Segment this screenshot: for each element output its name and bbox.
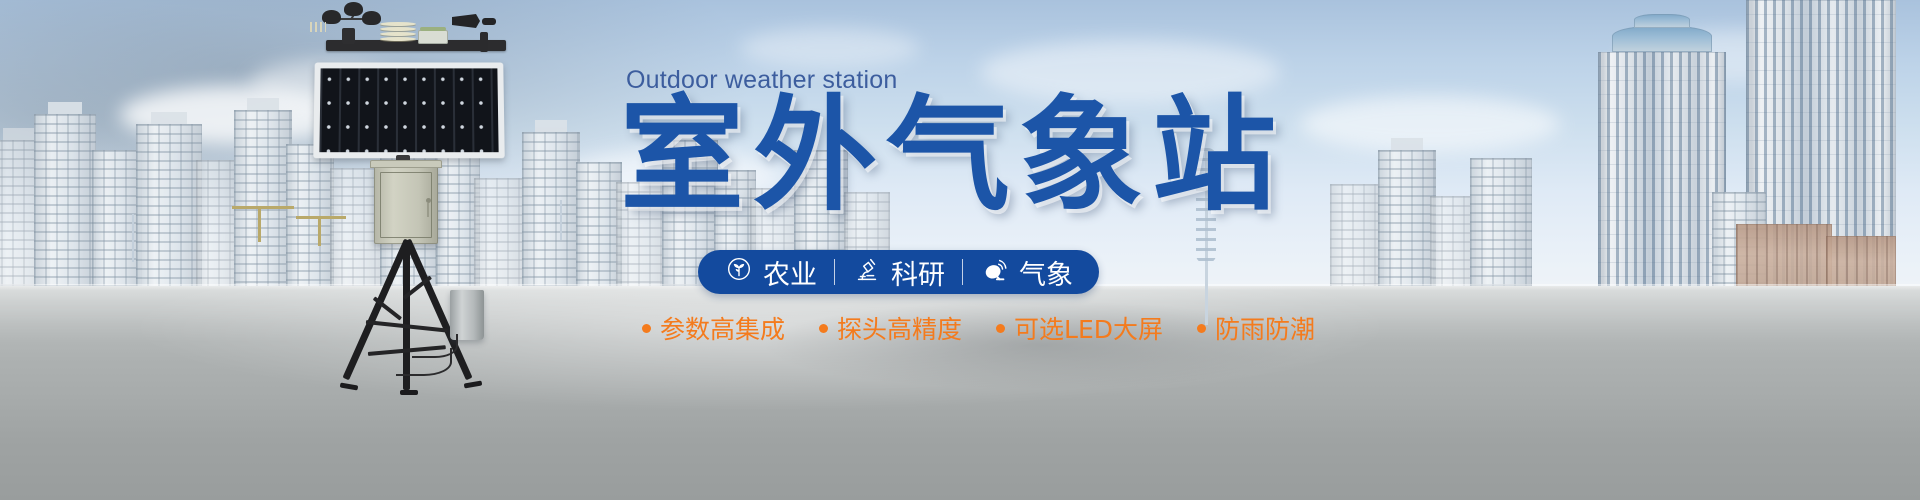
weather-station-product [300,0,560,420]
category-label: 气象 [1019,253,1073,292]
banner-copy: Outdoor weather station 室外气象站 农业 [620,0,1680,500]
pill-divider [834,259,835,285]
cabinet-roof [370,160,442,168]
solar-panel [313,62,505,158]
product-banner: Outdoor weather station 室外气象站 农业 [0,0,1920,500]
feature-list: 参数高集成 探头高精度 可选LED大屏 防雨防潮 [642,310,1315,346]
feature-label: 探头高精度 [837,310,962,346]
bullet-dot-icon [819,324,828,333]
category-meteorology[interactable]: 气象 [980,253,1073,292]
microscope-icon [852,254,882,291]
plant-circle-icon [724,254,754,291]
feature-item: 防雨防潮 [1197,310,1315,346]
feature-item: 可选LED大屏 [996,310,1163,346]
rain-gauge [450,290,484,340]
page-title: 室外气象站 [620,92,1285,220]
feature-label: 可选LED大屏 [1014,310,1163,346]
satellite-dish-icon [980,254,1010,291]
pill-divider [962,259,963,285]
category-research[interactable]: 科研 [852,253,945,292]
radiation-shield-icon [380,22,416,44]
bullet-dot-icon [642,324,651,333]
cable [412,334,458,358]
sensor-module [418,30,448,44]
wind-vane-icon [452,14,498,36]
feature-label: 参数高集成 [660,310,785,346]
cabinet-door [380,172,432,238]
category-label: 科研 [891,253,945,292]
sensor-module-top [420,27,446,31]
bullet-dot-icon [996,324,1005,333]
category-label: 农业 [763,253,817,292]
radiation-shield-legs [310,22,326,32]
feature-item: 探头高精度 [819,310,962,346]
category-pill: 农业 科研 [698,250,1099,294]
bullet-dot-icon [1197,324,1206,333]
category-agriculture[interactable]: 农业 [724,253,817,292]
feature-item: 参数高集成 [642,310,785,346]
feature-label: 防雨防潮 [1215,310,1315,346]
cabinet-key-icon [427,203,429,217]
